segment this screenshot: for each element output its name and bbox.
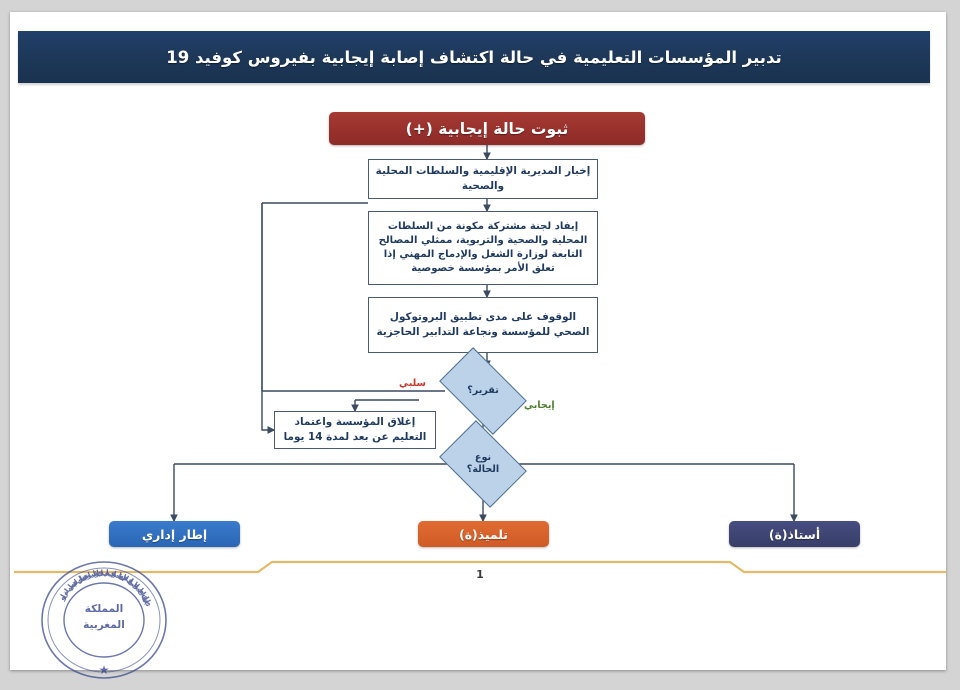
decision-case-type-line1: نوع: [475, 452, 491, 463]
decision-case-type-line2: الحالة؟: [467, 464, 499, 475]
decision-case-type-label: نوع الحالة؟: [467, 452, 499, 477]
decision-report-label: تقرير؟: [467, 385, 499, 397]
page-number: 1: [460, 568, 500, 581]
seal-ring-text: وزارة التربية الوطنية والتكوين المهني وا…: [37, 558, 171, 682]
slide-page: تدبير المؤسسات التعليمية في حالة اكتشاف …: [0, 0, 960, 690]
official-seal-stamp: ★ المملكة المغربية وزارة التربية الوطنية…: [37, 558, 171, 682]
